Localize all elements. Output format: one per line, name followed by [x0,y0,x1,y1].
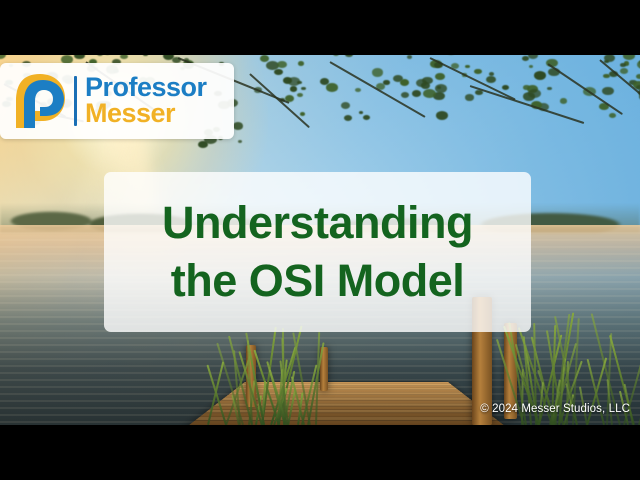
pier-post [246,345,256,407]
professor-messer-logo: Professor Messer [0,63,234,139]
logo-wordmark: Professor Messer [85,75,207,127]
title-line-2: the OSI Model [171,252,465,310]
title-card: Understanding the OSI Model [104,172,531,332]
video-slide: Professor Messer Understanding the OSI M… [0,0,640,480]
letterbox-bar-top [0,0,640,55]
title-line-1: Understanding [162,194,473,252]
logo-divider [74,76,77,126]
professor-messer-p-monogram-icon [10,70,72,132]
copyright-notice: © 2024 Messer Studios, LLC [480,403,630,415]
pier-deck [181,382,511,425]
letterbox-bar-bottom [0,425,640,480]
pier-post [320,347,328,391]
logo-word-messer: Messer [85,101,207,127]
